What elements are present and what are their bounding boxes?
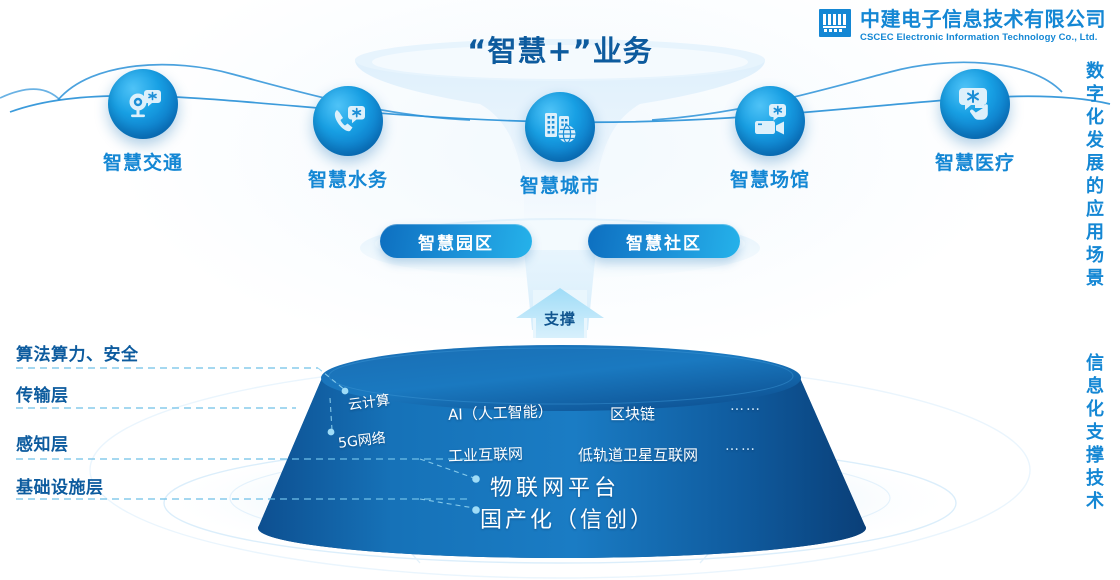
vertical-char: 景 [1082,267,1108,290]
tech-label-localization: 国产化（信创） [480,502,655,534]
dot-iot [472,475,480,483]
vertical-char: 撑 [1082,444,1108,467]
scenario-label: 智慧场馆 [685,165,855,192]
vertical-char: 技 [1082,467,1108,490]
pill-smart-community[interactable]: 智慧社区 [588,224,740,258]
tech-label-industrial-internet: 工业互联网 [448,443,524,467]
tech-label-ellipsis-2: …… [725,438,757,454]
scenario-label: 智慧医疗 [890,148,1060,175]
layer-label-algorithm-security: 算法算力、安全 [16,340,139,365]
tech-label-iot-platform: 物联网平台 [490,470,620,502]
video-camera-icon [735,86,805,156]
traffic-camera-icon [108,69,178,139]
dot-dom [472,506,480,514]
vertical-char: 支 [1082,421,1108,444]
tech-label-ellipsis-1: …… [730,398,762,414]
tech-label-blockchain: 区块链 [610,403,655,424]
vertical-char: 场 [1082,244,1108,267]
vertical-char: 数 [1082,60,1108,83]
right-axis-application-scenarios: 数字化发展的应用场景 [1082,60,1108,290]
diagram-canvas: 中建电子信息技术有限公司 CSCEC Electronic Informatio… [0,0,1120,580]
vertical-char: 化 [1082,398,1108,421]
scenario-label: 智慧交通 [58,148,228,175]
tech-label-leo-satellite: 低轨道卫星互联网 [578,444,698,465]
support-label: 支撑 [0,308,1120,329]
layer-label-transmission: 传输层 [16,381,69,406]
vertical-char: 术 [1082,490,1108,513]
vertical-char: 字 [1082,83,1108,106]
brand-name-cn: 中建电子信息技术有限公司 [860,9,1106,29]
city-globe-icon [525,92,595,162]
vertical-char: 应 [1082,198,1108,221]
medical-hand-icon [940,69,1010,139]
vertical-char: 信 [1082,352,1108,375]
dot-cloud [342,388,349,395]
right-axis-support-technology: 信息化支撑技术 [1082,352,1108,513]
scenario-label: 智慧水务 [263,165,433,192]
vertical-char: 展 [1082,152,1108,175]
tech-label-ai: AI（人工智能） [448,400,553,425]
vertical-char: 的 [1082,175,1108,198]
dot-5g [328,429,335,436]
orbit-arc-tail-left [0,89,60,100]
layer-label-infrastructure: 基础设施层 [16,473,104,498]
vertical-char: 发 [1082,129,1108,152]
page-title: “智慧+”业务 [0,28,1120,70]
vertical-char: 用 [1082,221,1108,244]
vertical-char: 化 [1082,106,1108,129]
vertical-char: 息 [1082,375,1108,398]
scenario-label: 智慧城市 [475,171,645,198]
layer-label-perception: 感知层 [16,430,69,455]
phone-chat-icon [313,86,383,156]
base-cylinder-top [321,345,801,411]
pill-smart-park[interactable]: 智慧园区 [380,224,532,258]
